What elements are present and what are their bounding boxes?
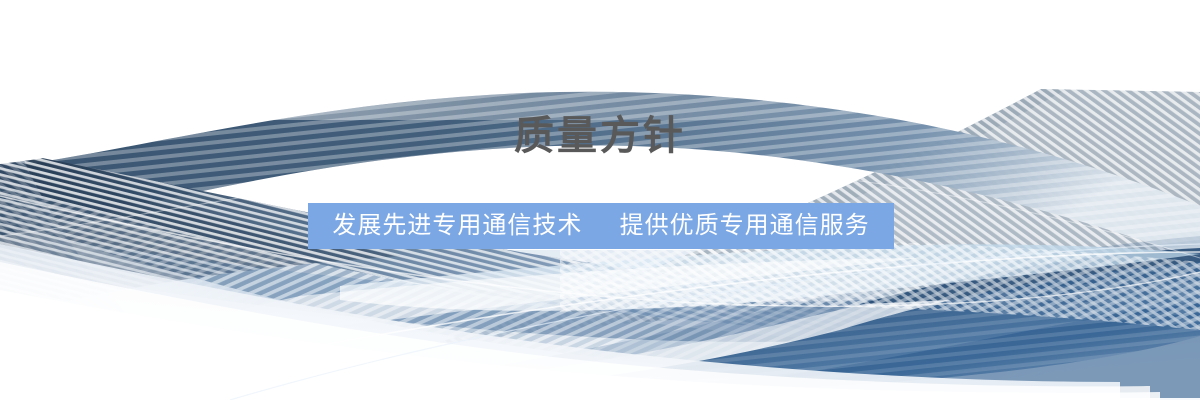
quality-policy-banner: 质量方针 发展先进专用通信技术 提供优质专用通信服务 bbox=[0, 0, 1200, 400]
artwork-left-navy-fan bbox=[0, 142, 1200, 400]
artwork-bottom-right-deep-blue-wave bbox=[0, 236, 1200, 400]
page-title: 质量方针 bbox=[514, 112, 686, 160]
artwork-pale-highlight-sweep bbox=[70, 244, 1200, 370]
artwork-bottom-left-white-sweep bbox=[0, 244, 1160, 400]
slogan-phrase-1: 发展先进专用通信技术 bbox=[332, 212, 582, 239]
slogan-bar: 发展先进专用通信技术 提供优质专用通信服务 bbox=[308, 203, 894, 249]
slogan-text: 发展先进专用通信技术 提供优质专用通信服务 bbox=[332, 213, 869, 239]
background-artwork bbox=[0, 0, 1200, 400]
artwork-top-right-gray-fan bbox=[430, 0, 1200, 345]
slogan-phrase-2: 提供优质专用通信服务 bbox=[620, 212, 870, 239]
page-title-container: 质量方针 bbox=[0, 112, 1200, 160]
artwork-edge-highlights bbox=[0, 163, 1200, 400]
artwork-crosshatch-overlay bbox=[560, 240, 1200, 330]
